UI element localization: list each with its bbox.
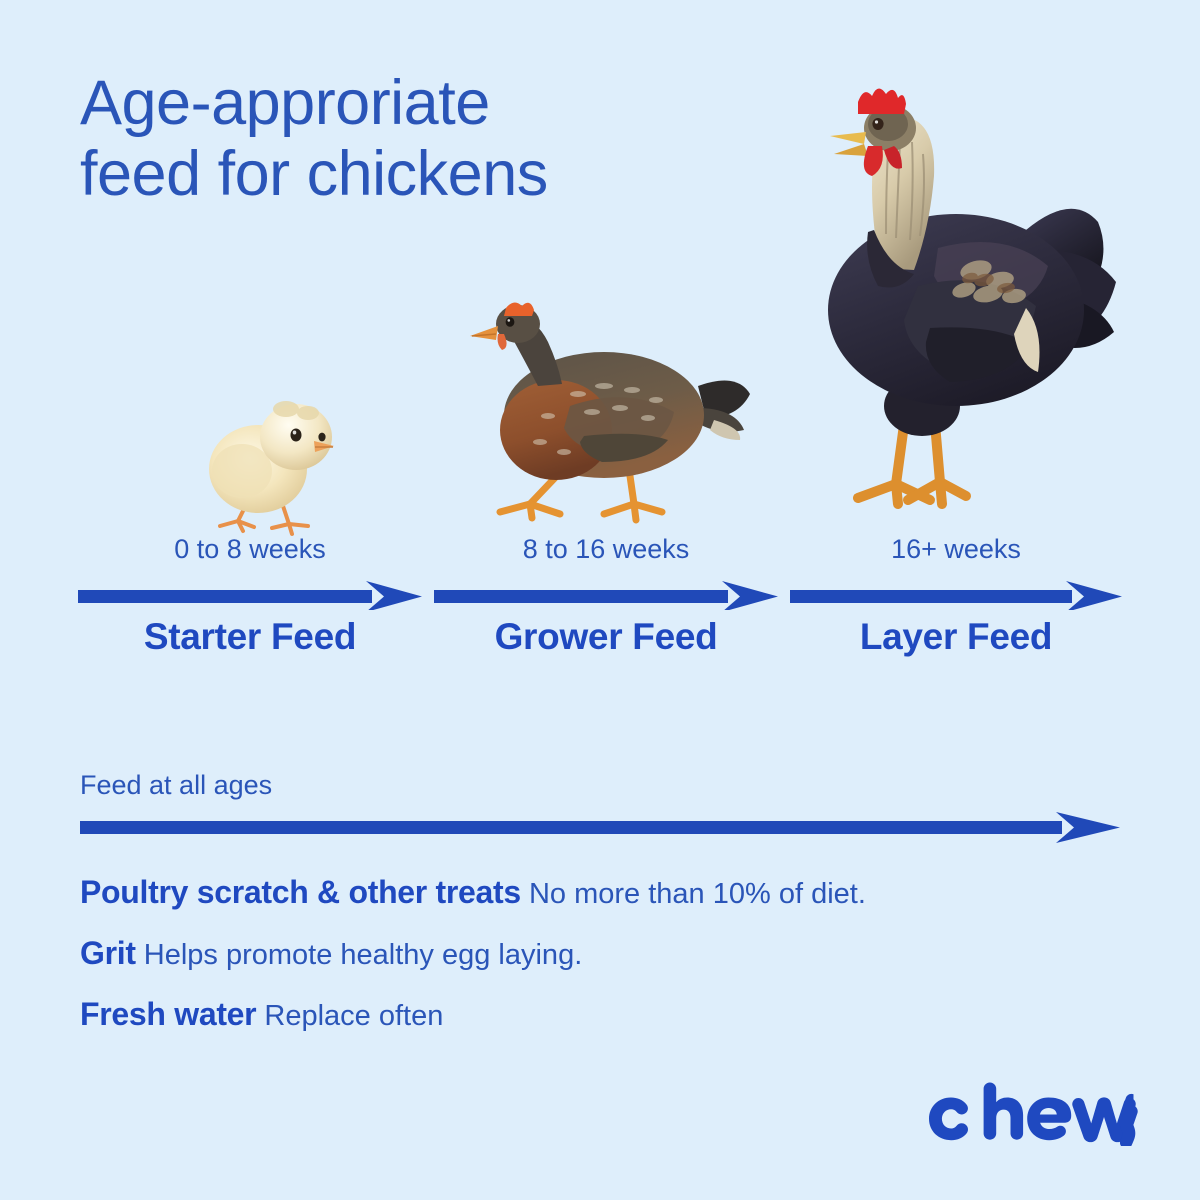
stage-feed-label: Starter Feed <box>78 616 422 658</box>
stage-age-label: 16+ weeks <box>790 536 1122 563</box>
note-desc: Replace often <box>264 1000 443 1032</box>
stage-age-label: 8 to 16 weeks <box>434 536 778 563</box>
note-term: Fresh water <box>80 996 256 1032</box>
all-ages-notes-list: Poultry scratch & other treats No more t… <box>80 876 1150 1059</box>
stage-feed-label: Layer Feed <box>790 616 1122 658</box>
infographic-canvas: Age-approriate feed for chickens <box>0 0 1200 1200</box>
all-ages-arrow-icon <box>80 810 1120 844</box>
timeline-stage-starter: 0 to 8 weeks Starter Feed <box>78 536 422 563</box>
list-item: Fresh water Replace often <box>80 998 1150 1031</box>
stage-age-label: 0 to 8 weeks <box>78 536 422 563</box>
pullet-chicken-image <box>452 290 762 540</box>
timeline-stage-layer: 16+ weeks Layer Feed <box>790 536 1122 563</box>
stage-feed-label: Grower Feed <box>434 616 778 658</box>
chicken-illustration-band <box>0 70 1200 540</box>
note-term: Poultry scratch & other treats <box>80 874 521 910</box>
stage-arrow-icon <box>790 580 1122 610</box>
note-desc: No more than 10% of diet. <box>529 878 866 910</box>
chewy-logo <box>928 1080 1138 1142</box>
adult-hen-image <box>738 80 1138 540</box>
note-term: Grit <box>80 935 136 971</box>
timeline-stage-grower: 8 to 16 weeks Grower Feed <box>434 536 778 563</box>
all-ages-section: Feed at all ages <box>80 772 1120 799</box>
stage-arrow-icon <box>434 580 778 610</box>
stage-arrow-icon <box>78 580 422 610</box>
all-ages-label: Feed at all ages <box>80 772 1120 799</box>
list-item: Grit Helps promote healthy egg laying. <box>80 937 1150 970</box>
feed-timeline: 0 to 8 weeks Starter Feed 8 to 16 weeks … <box>0 536 1200 676</box>
note-desc: Helps promote healthy egg laying. <box>144 939 582 971</box>
baby-chick-image <box>186 385 356 540</box>
list-item: Poultry scratch & other treats No more t… <box>80 876 1150 909</box>
